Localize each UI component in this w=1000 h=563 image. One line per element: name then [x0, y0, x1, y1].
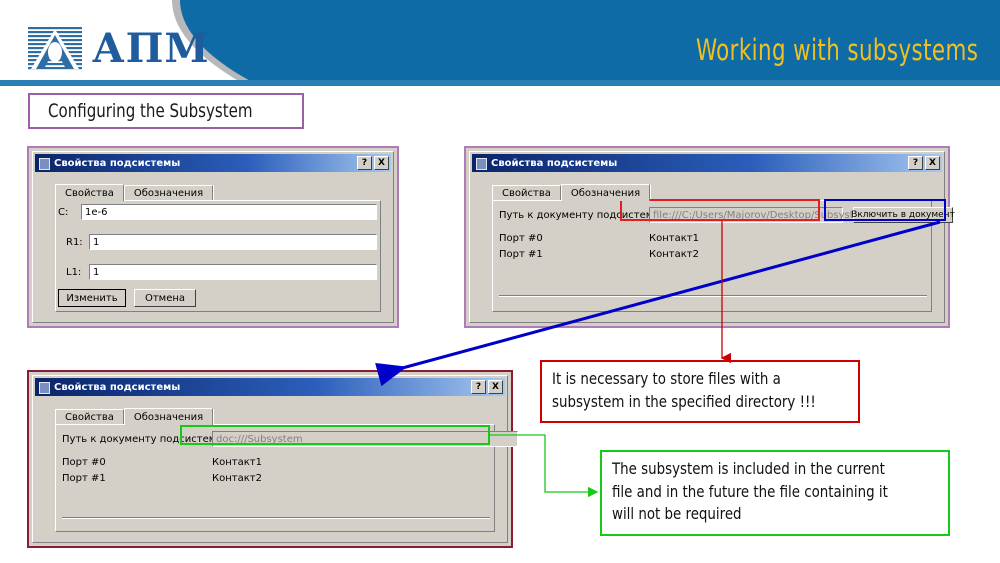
dialog-title: Свойства подсистемы — [54, 158, 180, 169]
dialog-title: Свойства подсистемы — [491, 158, 617, 169]
slide-subtitle-text: Configuring the Subsystem — [48, 100, 253, 122]
dialog-subsystem-designations-file[interactable]: Свойства подсистемы ? X Свойства Обознач… — [464, 146, 950, 328]
port-0-contact: Контакт1 — [649, 233, 699, 244]
port-0-contact: Контакт1 — [212, 457, 262, 468]
port-1-label: Порт #1 — [62, 473, 106, 484]
dialog-subsystem-properties[interactable]: Свойства подсистемы ? X Свойства Обознач… — [27, 146, 399, 328]
help-button[interactable]: ? — [471, 380, 486, 394]
window-icon — [475, 157, 487, 169]
window-icon — [38, 381, 50, 393]
tab-oboznacheniya[interactable]: Обозначения — [124, 408, 213, 425]
note-red-line-1: It is necessary to store files with a — [552, 368, 827, 391]
help-button[interactable]: ? — [357, 156, 372, 170]
highlight-path-field — [620, 199, 820, 221]
apm-triangle-logo-icon — [28, 27, 82, 71]
tab-svoystva[interactable]: Свойства — [492, 185, 561, 201]
note-green-included-subsystem: The subsystem is included in the current… — [600, 450, 950, 536]
dialog-titlebar[interactable]: Свойства подсистемы ? X — [35, 154, 391, 172]
panel-divider — [62, 517, 490, 519]
port-1-contact: Контакт2 — [212, 473, 262, 484]
tabstrip: Свойства Обозначения — [55, 184, 217, 201]
apm-logo-text: АПМ — [92, 29, 210, 69]
dialog-title: Свойства подсистемы — [54, 382, 180, 393]
tabstrip: Свойства Обозначения — [492, 184, 654, 201]
panel-divider — [499, 295, 927, 297]
field-input-c[interactable]: 1e-6 — [81, 204, 377, 220]
help-button[interactable]: ? — [908, 156, 923, 170]
port-0-label: Порт #0 — [62, 457, 106, 468]
window-icon — [38, 157, 50, 169]
cancel-button[interactable]: Отмена — [134, 289, 196, 307]
dialog-frame: Свойства подсистемы ? X Свойства Обознач… — [32, 375, 508, 543]
page-title: Working with subsystems — [696, 33, 978, 67]
close-button[interactable]: X — [488, 380, 503, 394]
note-red-store-files: It is necessary to store files with a su… — [540, 360, 860, 423]
close-button[interactable]: X — [925, 156, 940, 170]
field-label-c: C: — [58, 207, 68, 218]
highlight-include-button — [824, 199, 946, 221]
slide-subtitle-box: Configuring the Subsystem — [28, 93, 304, 129]
tabstrip: Свойства Обозначения — [55, 408, 217, 425]
close-button[interactable]: X — [374, 156, 389, 170]
header-bottom-strip-white — [0, 86, 1000, 90]
port-0-label: Порт #0 — [499, 233, 543, 244]
highlight-doc-path-field — [180, 425, 490, 445]
note-green-line-1: The subsystem is included in the current — [612, 458, 915, 481]
note-green-line-2: file and in the future the file containi… — [612, 481, 915, 504]
note-red-line-2: subsystem in the specified directory !!! — [552, 391, 827, 414]
tab-svoystva[interactable]: Свойства — [55, 184, 124, 201]
port-1-contact: Контакт2 — [649, 249, 699, 260]
dialog-titlebar[interactable]: Свойства подсистемы ? X — [35, 378, 505, 396]
tabstrip-tail — [213, 409, 217, 425]
tab-oboznacheniya[interactable]: Обозначения — [561, 184, 650, 201]
field-label-l1: L1: — [66, 267, 81, 278]
dialog-titlebar[interactable]: Свойства подсистемы ? X — [472, 154, 942, 172]
tabstrip-tail — [213, 185, 217, 201]
port-1-label: Порт #1 — [499, 249, 543, 260]
dialog-frame: Свойства подсистемы ? X Свойства Обознач… — [32, 151, 394, 323]
tab-svoystva[interactable]: Свойства — [55, 409, 124, 425]
note-green-line-3: will not be required — [612, 503, 915, 526]
dialog-frame: Свойства подсистемы ? X Свойства Обознач… — [469, 151, 945, 323]
dialog-subsystem-designations-doc[interactable]: Свойства подсистемы ? X Свойства Обознач… — [27, 370, 513, 548]
apply-button[interactable]: Изменить — [58, 289, 126, 307]
tab-panel: C: 1e-6 R1: 1 L1: 1 Изменить Отмена — [55, 200, 381, 312]
tab-oboznacheniya[interactable]: Обозначения — [124, 185, 213, 201]
field-input-r1[interactable]: 1 — [89, 234, 377, 250]
apm-logo: АПМ — [28, 27, 210, 71]
field-label-r1: R1: — [66, 237, 83, 248]
field-input-l1[interactable]: 1 — [89, 264, 377, 280]
